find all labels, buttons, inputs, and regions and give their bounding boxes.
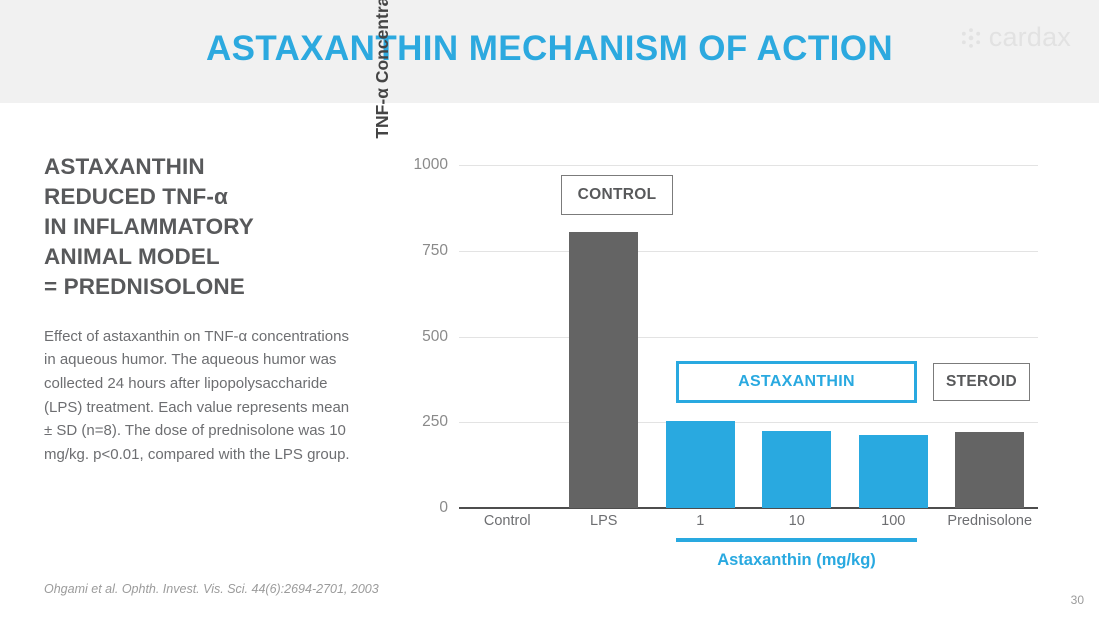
callout-astaxanthin: ASTAXANTHIN [676,361,917,403]
y-tick-label: 750 [388,242,448,260]
y-tick-label: 1000 [388,156,448,174]
y-axis-title: TNF-α Concentration (pg/ml) [372,0,394,180]
callout-control: CONTROL [561,175,673,215]
x-tick-label: 10 [789,513,805,529]
bar-prednisolone [955,432,1024,508]
y-tick-label: 0 [388,499,448,517]
bar-chart: TNF-α Concentration (pg/ml) 025050075010… [0,0,1099,618]
bar-100 [859,435,928,508]
callout-steroid: STEROID [933,363,1030,401]
x-tick-label: Control [484,513,531,529]
x-tick-label: 1 [696,513,704,529]
plot-area [459,150,1038,508]
y-tick-label: 250 [388,413,448,431]
group-bracket-label: Astaxanthin (mg/kg) [676,551,917,570]
bar-1 [666,421,735,508]
x-tick-label: 100 [881,513,905,529]
group-bracket-line [676,538,917,542]
bar-lps [569,232,638,508]
bar-10 [762,431,831,508]
x-tick-label: LPS [590,513,617,529]
y-axis-tick-labels: 02505007501000 [400,0,448,618]
x-tick-label: Prednisolone [947,513,1032,529]
y-tick-label: 500 [388,328,448,346]
